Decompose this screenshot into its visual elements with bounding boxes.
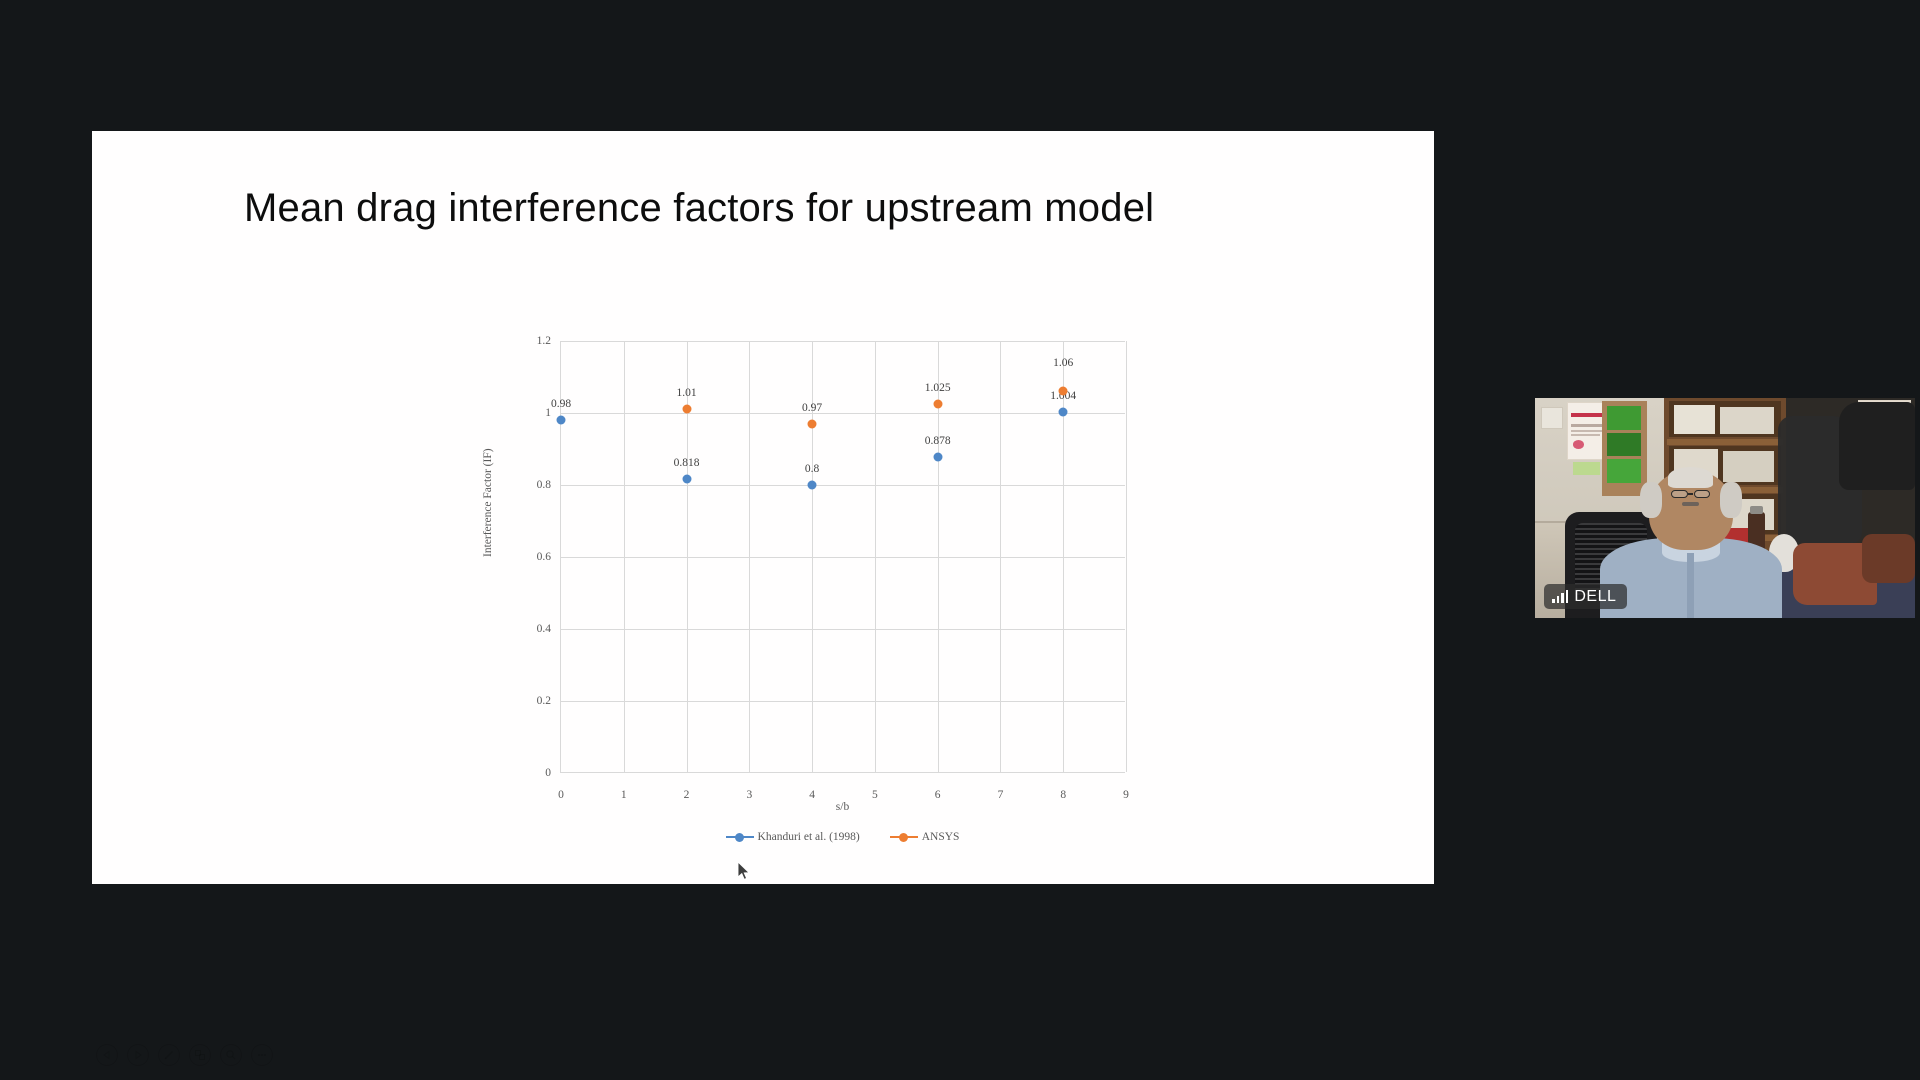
gridline-horizontal: [561, 701, 1125, 702]
data-point-label: 0.98: [551, 398, 571, 410]
y-axis-tick-label: 0.6: [537, 551, 551, 563]
data-point-label: 1.01: [676, 387, 696, 399]
gridline-vertical: [1063, 341, 1064, 772]
data-point-marker: [808, 419, 817, 428]
x-axis-tick-label: 5: [872, 789, 878, 801]
x-axis-tick-label: 2: [684, 789, 690, 801]
gridline-vertical: [624, 341, 625, 772]
y-axis-tick-label: 0.8: [537, 479, 551, 491]
presenter-toolbar[interactable]: [96, 1044, 273, 1066]
y-axis-tick-label: 1.2: [537, 335, 551, 347]
data-point-marker: [682, 405, 691, 414]
page-title: Mean drag interference factors for upstr…: [244, 186, 1364, 231]
magnifier-icon: [225, 1049, 237, 1061]
data-point-label: 0.8: [805, 463, 819, 475]
legend-item[interactable]: Khanduri et al. (1998): [726, 831, 860, 843]
gridline-horizontal: [561, 557, 1125, 558]
next-slide-button[interactable]: [127, 1044, 149, 1066]
signal-bars-icon: [1552, 590, 1568, 603]
pen-tool-button[interactable]: [158, 1044, 180, 1066]
data-point-marker: [808, 481, 817, 490]
data-point-marker: [682, 474, 691, 483]
ellipsis-icon: [255, 1050, 269, 1060]
more-options-button[interactable]: [251, 1044, 273, 1066]
pen-icon: [163, 1049, 175, 1061]
gridline-horizontal: [561, 629, 1125, 630]
leather-bag-2: [1862, 534, 1915, 582]
wall-sticky-note: [1573, 462, 1600, 475]
zoom-button[interactable]: [220, 1044, 242, 1066]
triangle-right-icon: [133, 1050, 143, 1060]
chart-plot-area: 00.20.40.60.811.201234567890.980.8180.80…: [560, 341, 1125, 773]
data-point-marker: [1059, 407, 1068, 416]
plastic-bag-2: [1839, 402, 1915, 490]
x-axis-tick-label: 4: [809, 789, 815, 801]
legend-marker-icon: [890, 832, 918, 842]
x-axis-tick-label: 9: [1123, 789, 1129, 801]
x-axis-title: s/b: [560, 801, 1125, 813]
y-axis-tick-label: 0.2: [537, 695, 551, 707]
scatter-chart: 00.20.40.60.811.201234567890.980.8180.80…: [490, 331, 1130, 851]
y-axis-title: Interference Factor (IF): [482, 448, 494, 557]
mouse-pointer-icon: [738, 862, 752, 887]
participant-name-badge: DELL: [1544, 584, 1627, 609]
data-point-marker: [933, 400, 942, 409]
data-point-label: 0.818: [674, 457, 700, 469]
gridline-horizontal: [561, 485, 1125, 486]
x-axis-tick-label: 7: [998, 789, 1004, 801]
slides-grid-icon: [194, 1049, 206, 1061]
x-axis-tick-label: 8: [1060, 789, 1066, 801]
previous-slide-button[interactable]: [96, 1044, 118, 1066]
data-point-marker: [557, 416, 566, 425]
x-axis-tick-label: 1: [621, 789, 627, 801]
y-axis-tick-label: 0.4: [537, 623, 551, 635]
legend-item[interactable]: ANSYS: [890, 831, 960, 843]
legend-marker-icon: [726, 832, 754, 842]
gridline-vertical: [875, 341, 876, 772]
triangle-left-icon: [102, 1050, 112, 1060]
data-point-label: 1.06: [1053, 357, 1073, 369]
gridline-vertical: [1000, 341, 1001, 772]
x-axis-tick-label: 0: [558, 789, 564, 801]
all-slides-button[interactable]: [189, 1044, 211, 1066]
legend-label: ANSYS: [922, 831, 960, 843]
data-point-label: 1.025: [925, 382, 951, 394]
gridline-horizontal: [561, 413, 1125, 414]
webcam-tile[interactable]: DELL: [1535, 398, 1915, 618]
gridline-vertical: [749, 341, 750, 772]
data-point-label: 0.97: [802, 402, 822, 414]
gridline-vertical: [1126, 341, 1127, 772]
presentation-screen: Mean drag interference factors for upstr…: [0, 0, 1920, 1080]
x-axis-tick-label: 3: [746, 789, 752, 801]
chart-legend: Khanduri et al. (1998)ANSYS: [560, 831, 1125, 843]
y-axis-tick-label: 0: [545, 767, 551, 779]
participant-name: DELL: [1574, 588, 1616, 606]
data-point-label: 0.878: [925, 435, 951, 447]
data-point-marker: [933, 452, 942, 461]
gridline-horizontal: [561, 341, 1125, 342]
legend-label: Khanduri et al. (1998): [758, 831, 860, 843]
data-point-marker: [1059, 387, 1068, 396]
wall-switchbox: [1541, 407, 1564, 429]
x-axis-tick-label: 6: [935, 789, 941, 801]
slide-canvas[interactable]: Mean drag interference factors for upstr…: [92, 131, 1434, 884]
